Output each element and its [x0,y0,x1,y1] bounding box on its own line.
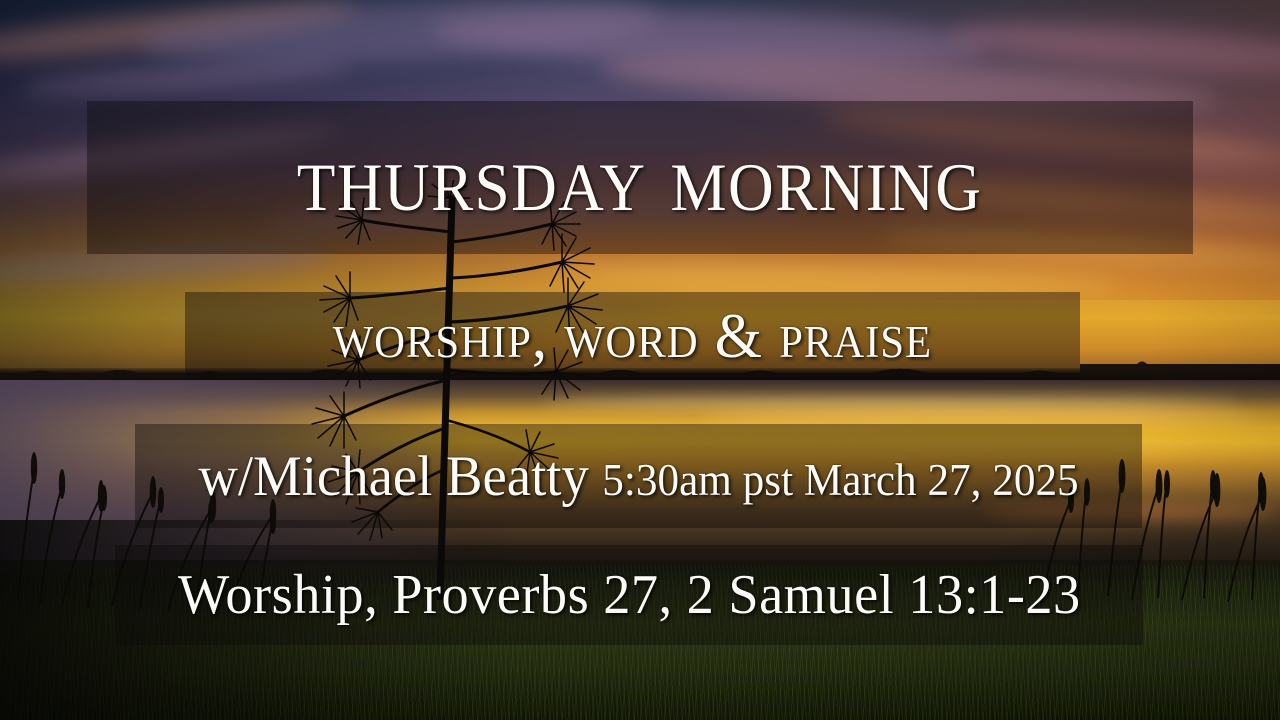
speaker-banner: w/Michael Beatty 5:30am pst March 27, 20… [135,424,1142,528]
scripture-text: Worship, Proverbs 27, 2 Samuel 13:1-23 [178,567,1081,623]
scripture-banner: Worship, Proverbs 27, 2 Samuel 13:1-23 [115,545,1143,645]
subtitle-banner: Worship, Word & Praise [185,292,1080,380]
speaker-line: w/Michael Beatty 5:30am pst March 27, 20… [198,448,1078,505]
page-title: Thursday Morning [297,129,983,226]
subtitle-text: Worship, Word & Praise [333,304,932,368]
service-datetime: 5:30am pst March 27, 2025 [589,458,1079,503]
title-banner: Thursday Morning [87,101,1193,254]
announcement-slide: Thursday Morning Worship, Word & Praise … [0,0,1280,720]
speaker-name: w/Michael Beatty [198,448,589,505]
